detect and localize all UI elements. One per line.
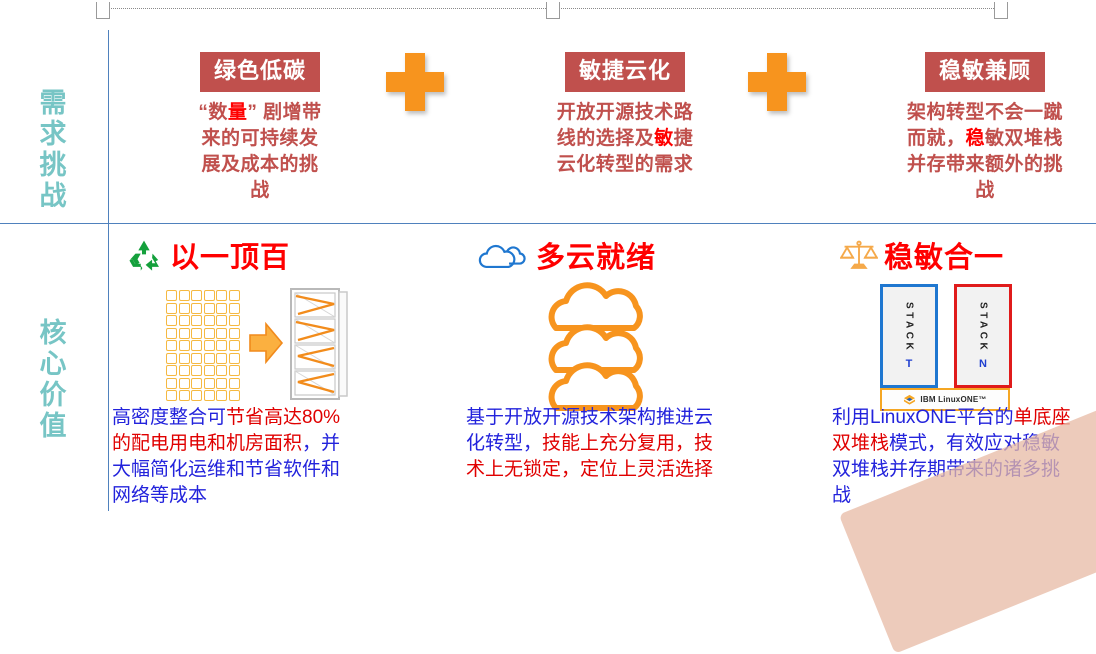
server-grid-cell	[229, 378, 240, 389]
server-grid-cell	[204, 353, 215, 364]
slide-guide-ruler	[96, 2, 1008, 18]
server-grid-cell	[229, 353, 240, 364]
server-grid-cell	[191, 365, 202, 376]
core-value-column: 稳敏合一 STACK T STACK N IBM Li	[828, 238, 1096, 418]
server-grid-cell	[179, 290, 190, 301]
row-label-char: 需	[18, 88, 88, 119]
row-label-challenges: 需 求 挑 战	[18, 88, 88, 212]
stacked-clouds-art	[538, 280, 674, 412]
stack-box-t: STACK T	[880, 284, 938, 388]
server-grid-cell	[179, 365, 190, 376]
dual-stack-art: STACK T STACK N IBM LinuxONE™	[866, 284, 1048, 416]
slide-canvas: 需 求 挑 战 核 心 价 值 绿色低碳 “数量” 剧增带来的可持续发展及成本的…	[0, 0, 1096, 511]
server-grid-cell	[166, 328, 177, 339]
challenge-card: 稳敏兼顾 架构转型不会一蹴而就，稳敏双堆栈并存带来额外的挑战	[880, 52, 1090, 204]
server-grid-cell	[166, 365, 177, 376]
server-grid-cell	[216, 303, 227, 314]
body-part-highlight: 稳	[965, 128, 985, 149]
server-grid-cell	[191, 340, 202, 351]
stack-box-n: STACK N	[954, 284, 1012, 388]
server-grid-cell	[216, 353, 227, 364]
server-grid-cell	[166, 315, 177, 326]
core-value-title: 以一顶百	[170, 243, 290, 273]
server-grid-cell	[204, 378, 215, 389]
server-grid-cell	[191, 328, 202, 339]
server-grid-cell	[179, 353, 190, 364]
server-grid-cell	[204, 365, 215, 376]
server-grid-cell	[204, 328, 215, 339]
vertical-divider-top	[108, 30, 109, 223]
server-consolidation-diagram	[118, 278, 448, 418]
guide-tick-left	[96, 2, 110, 19]
server-grid-cell	[229, 290, 240, 301]
server-grid-cell	[216, 315, 227, 326]
dual-stack-linuxone-diagram: STACK T STACK N IBM LinuxONE™	[828, 278, 1096, 418]
stack-box-label: STACK	[904, 302, 915, 353]
server-grid-cell	[191, 290, 202, 301]
row-label-char: 核	[18, 318, 88, 349]
recycle-icon	[124, 239, 164, 278]
row-label-char: 心	[18, 349, 88, 380]
challenge-card-body: “数量” 剧增带来的可持续发展及成本的挑战	[195, 100, 325, 204]
horizontal-divider	[0, 223, 1096, 224]
server-grid-cell	[191, 378, 202, 389]
server-grid-cell	[166, 390, 177, 401]
challenge-card: 绿色低碳 “数量” 剧增带来的可持续发展及成本的挑战	[155, 52, 365, 204]
row-label-char: 求	[18, 119, 88, 150]
desc-part: 高密度整合可	[112, 407, 226, 428]
server-grid-cell	[216, 328, 227, 339]
core-value-title: 稳敏合一	[884, 243, 1004, 273]
server-grid-cell	[216, 290, 227, 301]
challenge-card-header: 稳敏兼顾	[925, 52, 1045, 92]
server-grid-cell	[191, 315, 202, 326]
server-grid-cell	[204, 340, 215, 351]
challenge-card-body: 开放开源技术路线的选择及敏捷云化转型的需求	[553, 100, 698, 178]
server-grid-cell	[204, 290, 215, 301]
row-label-char: 值	[18, 411, 88, 442]
challenge-card-body: 架构转型不会一蹴而就，稳敏双堆栈并存带来额外的挑战	[901, 100, 1069, 204]
server-grid-cell	[179, 315, 190, 326]
server-grid-cell	[216, 340, 227, 351]
challenge-card: 敏捷云化 开放开源技术路线的选择及敏捷云化转型的需求	[520, 52, 730, 178]
core-value-title-row: 以一顶百	[118, 238, 448, 278]
desc-part: 利用LinuxONE平台的	[832, 407, 1014, 428]
plus-icon	[386, 53, 444, 111]
guide-tick-right	[994, 2, 1008, 19]
server-grid	[166, 290, 240, 401]
arrow-right-icon	[248, 320, 284, 366]
row-label-char: 挑	[18, 150, 88, 181]
challenge-card-header: 绿色低碳	[200, 52, 320, 92]
server-grid-cell	[191, 303, 202, 314]
server-grid-cell	[179, 378, 190, 389]
core-value-description: 高密度整合可节省高达80%的配电用电和机房面积，并大幅简化运维和节省软件和网络等…	[112, 405, 350, 509]
server-grid-cell	[179, 340, 190, 351]
body-part-highlight: 量	[228, 102, 248, 123]
body-part: “数	[198, 102, 228, 123]
plus-icon-bar	[767, 53, 787, 111]
server-grid-cell	[166, 303, 177, 314]
stacked-clouds-diagram	[460, 278, 830, 418]
server-grid-cell	[216, 390, 227, 401]
server-grid-cell	[166, 290, 177, 301]
server-grid-cell	[229, 390, 240, 401]
server-grid-cell	[204, 303, 215, 314]
server-grid-cell	[179, 303, 190, 314]
consolidation-art	[166, 286, 326, 402]
core-value-column: 多云就绪	[460, 238, 830, 418]
server-grid-cell	[179, 328, 190, 339]
plus-icon-bar	[405, 53, 425, 111]
server-grid-cell	[216, 365, 227, 376]
server-grid-cell	[229, 340, 240, 351]
server-grid-cell	[216, 378, 227, 389]
server-grid-cell	[166, 353, 177, 364]
server-grid-cell	[166, 378, 177, 389]
server-grid-cell	[179, 390, 190, 401]
server-grid-cell	[204, 315, 215, 326]
row-label-char: 战	[18, 181, 88, 212]
row-label-core-values: 核 心 价 值	[18, 318, 88, 442]
server-grid-cell	[166, 340, 177, 351]
server-grid-cell	[191, 390, 202, 401]
challenge-card-header: 敏捷云化	[565, 52, 685, 92]
stack-box-tag: N	[979, 358, 987, 370]
server-grid-cell	[191, 353, 202, 364]
row-label-char: 价	[18, 380, 88, 411]
cloud-icon	[478, 241, 530, 276]
plus-icon	[748, 53, 806, 111]
core-value-title-row: 多云就绪	[460, 238, 830, 278]
core-value-column: 以一顶百	[118, 238, 448, 418]
server-grid-cell	[229, 303, 240, 314]
core-value-description: 基于开放开源技术架构推进云化转型，技能上充分复用，技术上无锁定，定位上灵活选择	[466, 405, 716, 483]
core-value-title: 多云就绪	[536, 243, 656, 273]
linuxone-bar-text: IBM LinuxONE™	[920, 395, 986, 404]
balance-scales-icon	[840, 239, 878, 278]
server-grid-cell	[229, 328, 240, 339]
linuxone-logo-icon	[903, 394, 916, 406]
stack-box-label: STACK	[978, 302, 989, 353]
server-grid-cell	[204, 390, 215, 401]
core-value-title-row: 稳敏合一	[828, 238, 1096, 278]
server-rack-icon	[290, 288, 348, 400]
stack-box-tag: T	[906, 358, 913, 370]
body-part-highlight: 敏	[654, 128, 674, 149]
server-grid-cell	[229, 315, 240, 326]
server-grid-cell	[229, 365, 240, 376]
vertical-divider-bottom	[108, 224, 109, 511]
guide-tick-center	[546, 2, 560, 19]
